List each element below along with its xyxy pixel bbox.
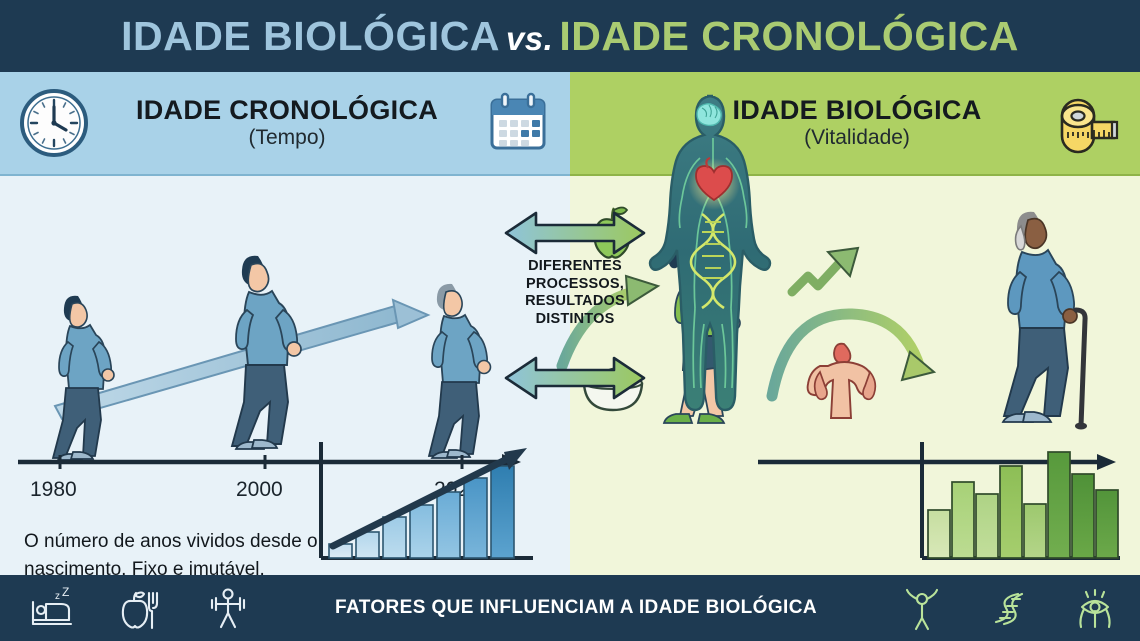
center-line-1: DIFERENTES — [505, 258, 645, 276]
strength-figure-icon — [808, 344, 876, 418]
timeline-label-2000: 2000 — [236, 478, 283, 502]
title-vs: vs. — [500, 20, 559, 57]
page-title: IDADE BIOLÓGICAvs.IDADE CRONOLÓGICA — [121, 13, 1019, 60]
sleep-bed-icon: z Z — [30, 588, 76, 628]
figure-young-man — [53, 296, 114, 460]
chronological-panel: IDADE CRONOLÓGICA (Tempo) — [0, 72, 570, 575]
human-body-vitality-diagram — [638, 88, 788, 428]
center-line-4: DISTINTOS — [505, 311, 645, 329]
double-arrow-icon-bottom — [500, 350, 650, 406]
timeline-label-1980: 1980 — [30, 478, 77, 502]
bottom-bar: z Z — [0, 575, 1140, 641]
walking-cane — [1075, 310, 1087, 430]
chronological-subtitle: (Tempo) — [108, 127, 466, 150]
title-part-chronological: IDADE CRONOLÓGICA — [559, 13, 1019, 59]
biological-bar-chart — [908, 436, 1133, 576]
mindfulness-eye-icon — [1074, 587, 1116, 629]
infographic-page: IDADE BIOLÓGICAvs.IDADE CRONOLÓGICA — [0, 0, 1140, 641]
dna-helix-icon — [988, 588, 1028, 628]
chronological-header: IDADE CRONOLÓGICA (Tempo) — [0, 72, 570, 176]
bottom-bar-text: FATORES QUE INFLUENCIAM A IDADE BIOLÓGIC… — [250, 597, 902, 619]
title-part-biological: IDADE BIOLÓGICA — [121, 13, 500, 59]
bottom-icons-left: z Z — [0, 587, 250, 629]
exercise-weights-icon — [206, 587, 250, 629]
improvement-arrow-icon — [792, 248, 858, 292]
clock-icon — [0, 87, 108, 159]
nutrition-apple-cutlery-icon — [120, 587, 162, 629]
chronological-title: IDADE CRONOLÓGICA — [108, 96, 466, 125]
double-arrow-icon-top — [500, 205, 650, 261]
calendar-icon — [466, 90, 570, 156]
figure-elderly-man-with-cane — [1003, 212, 1087, 430]
figure-older-man — [429, 284, 491, 458]
center-line-3: RESULTADOS — [505, 293, 645, 311]
brain-organ-icon — [697, 104, 721, 126]
lifestyle-arrow-2 — [772, 314, 934, 396]
chronological-header-titles: IDADE CRONOLÓGICA (Tempo) — [108, 96, 466, 150]
title-bar: IDADE BIOLÓGICAvs.IDADE CRONOLÓGICA — [0, 0, 1140, 72]
bottom-icons-right — [902, 587, 1140, 629]
stretching-person-icon — [902, 587, 942, 629]
center-message: DIFERENTES PROCESSOS, RESULTADOS DISTINT… — [505, 258, 645, 329]
measuring-tape-icon — [1036, 94, 1140, 152]
svg-text:Z: Z — [62, 585, 69, 599]
chronological-bar-chart — [305, 436, 545, 576]
svg-text:z: z — [55, 591, 60, 602]
heart-organ-icon — [688, 158, 740, 210]
center-line-2: PROCESSOS, — [505, 276, 645, 294]
